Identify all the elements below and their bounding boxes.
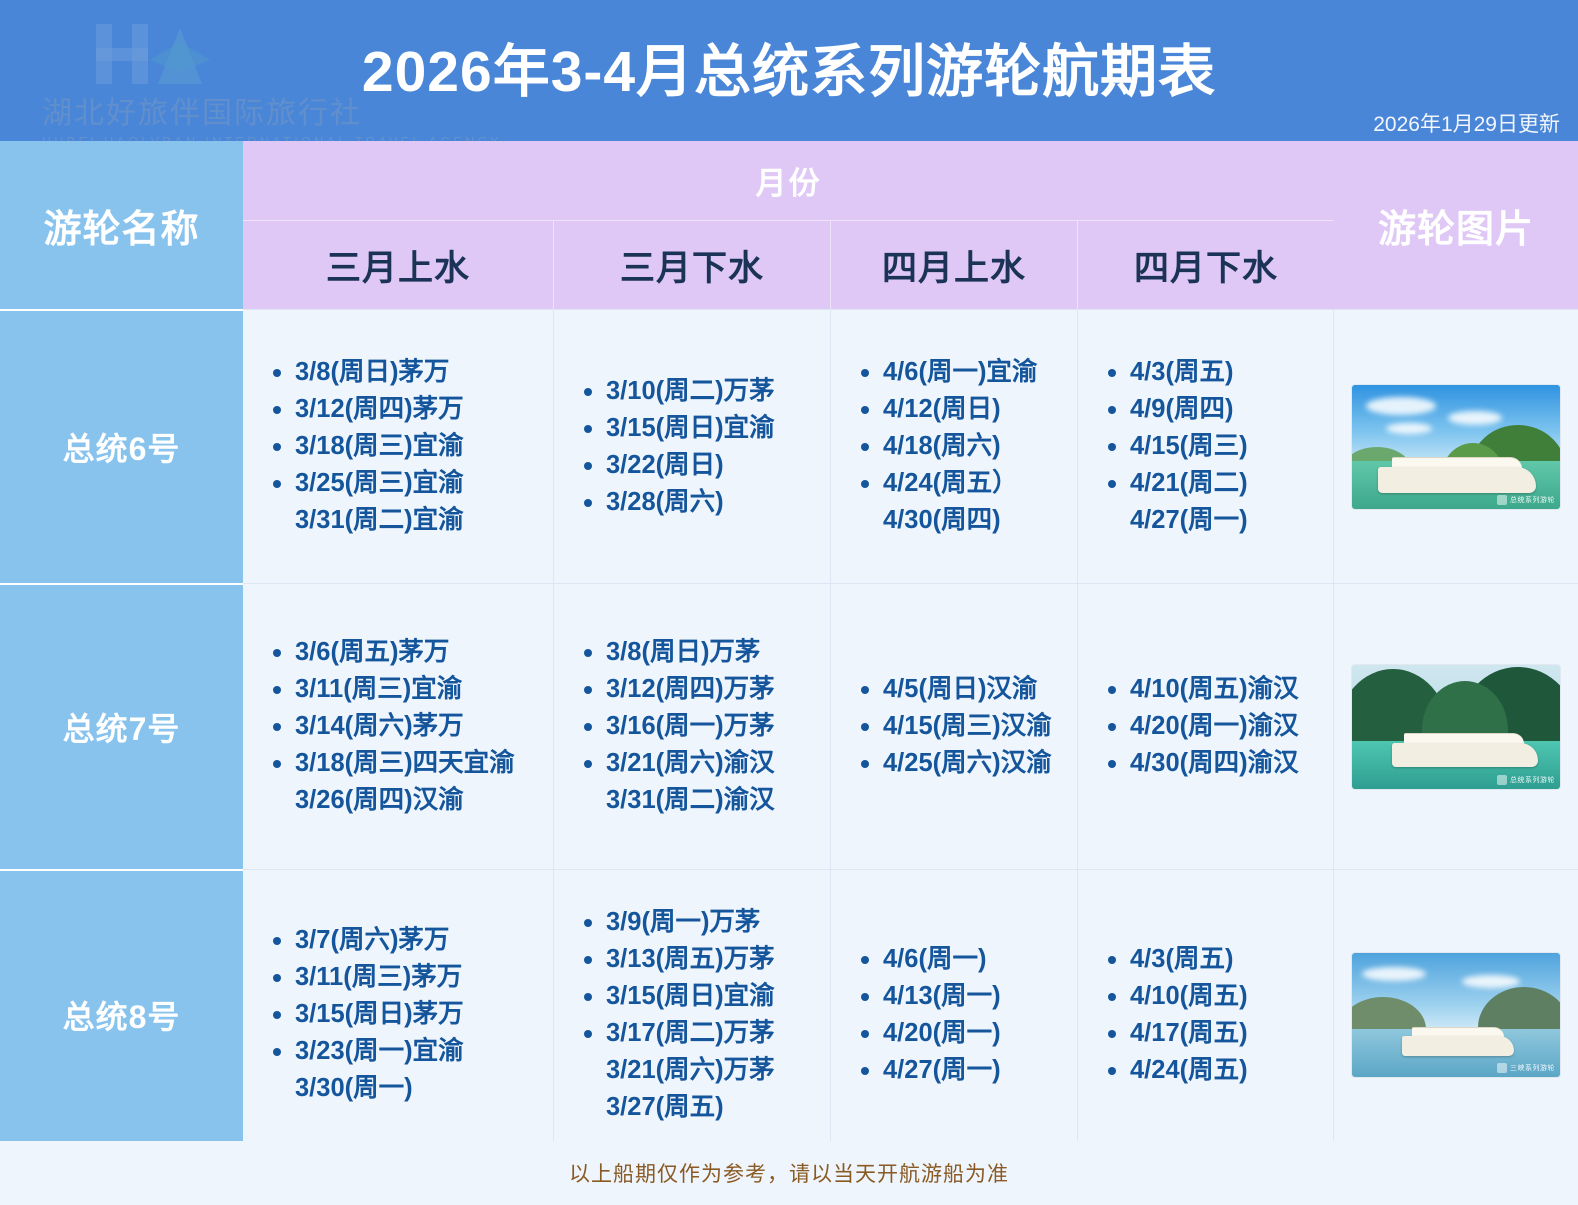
schedule-item: 3/9(周一)万茅 <box>584 904 824 941</box>
photo-watermark-badge: 总统系列游轮 <box>1497 495 1555 505</box>
schedule-list: 4/10(周五)渝汉 4/20(周一)渝汉 4/30(周四)渝汉 <box>1078 671 1333 782</box>
badge-logo-icon <box>1497 495 1507 505</box>
schedule-item: 4/21(周二) <box>1108 465 1327 502</box>
schedule-list: 4/3(周五) 4/9(周四) 4/15(周三) 4/21(周二) 4/27(周… <box>1078 354 1333 539</box>
schedule-item: 3/26(周四)汉渝 <box>273 782 547 819</box>
schedule-item: 4/30(周四) <box>861 502 1071 539</box>
cruise-schedule-page: 湖北好旅伴国际旅行社 HUBEI HAOLVBAN INTERNATIONAL … <box>0 0 1578 1205</box>
schedule-item: 3/15(周日)茅万 <box>273 996 547 1033</box>
schedule-item: 3/12(周四)茅万 <box>273 391 547 428</box>
table-row: 总统8号 3/7(周六)茅万 3/11(周三)茅万 3/15(周日)茅万 3/2… <box>0 869 1578 1159</box>
column-header-ship-name: 游轮名称 <box>0 141 243 309</box>
schedule-cell-march-downstream: 3/8(周日)万茅 3/12(周四)万茅 3/16(周一)万茅 3/21(周六)… <box>554 583 831 869</box>
schedule-list: 3/8(周日)茅万 3/12(周四)茅万 3/18(周三)宜渝 3/25(周三)… <box>243 354 553 539</box>
ship-hull <box>1378 467 1536 493</box>
table-header-row: 游轮名称 月份 三月上水 三月下水 四月上水 四月下水 游轮图片 <box>0 141 1578 309</box>
schedule-item: 3/21(周六)万茅 <box>584 1052 824 1089</box>
column-header-march-downstream: 三月下水 <box>554 221 831 309</box>
schedule-cell-march-downstream: 3/10(周二)万茅 3/15(周日)宜渝 3/22(周日) 3/28(周六) <box>554 309 831 583</box>
president-8-ship-photo: 三峡系列游轮 <box>1352 953 1560 1077</box>
schedule-item: 3/31(周二)宜渝 <box>273 502 547 539</box>
schedule-cell-april-upstream: 4/5(周日)汉渝 4/15(周三)汉渝 4/25(周六)汉渝 <box>831 583 1078 869</box>
ship-name-cell: 总统6号 <box>0 309 243 583</box>
cloud-shape <box>1448 411 1502 425</box>
schedule-item: 4/18(周六) <box>861 428 1071 465</box>
schedule-list: 3/7(周六)茅万 3/11(周三)茅万 3/15(周日)茅万 3/23(周一)… <box>243 922 553 1107</box>
schedule-cell-march-downstream: 3/9(周一)万茅 3/13(周五)万茅 3/15(周日)宜渝 3/17(周二)… <box>554 869 831 1159</box>
ship-photo-cell: 三峡系列游轮 <box>1334 869 1578 1159</box>
column-header-april-downstream: 四月下水 <box>1078 221 1334 309</box>
schedule-item: 4/15(周三)汉渝 <box>861 708 1071 745</box>
ship-photo-cell: 总统系列游轮 <box>1334 583 1578 869</box>
schedule-item: 3/22(周日) <box>584 447 824 484</box>
schedule-item: 4/9(周四) <box>1108 391 1327 428</box>
schedule-item: 4/13(周一) <box>861 978 1071 1015</box>
ship-hull <box>1392 743 1538 767</box>
schedule-list: 4/3(周五) 4/10(周五) 4/17(周五) 4/24(周五) <box>1078 941 1333 1089</box>
schedule-item: 3/28(周六) <box>584 484 824 521</box>
schedule-cell-march-upstream: 3/6(周五)茅万 3/11(周三)宜渝 3/14(周六)茅万 3/18(周三)… <box>243 583 554 869</box>
schedule-item: 4/5(周日)汉渝 <box>861 671 1071 708</box>
photo-watermark-badge: 总统系列游轮 <box>1497 775 1555 785</box>
schedule-cell-april-downstream: 4/10(周五)渝汉 4/20(周一)渝汉 4/30(周四)渝汉 <box>1078 583 1334 869</box>
schedule-item: 4/27(周一) <box>1108 502 1327 539</box>
schedule-list: 4/6(周一)宜渝 4/12(周日) 4/18(周六) 4/24(周五） 4/3… <box>831 354 1077 539</box>
schedule-item: 3/21(周六)渝汉 <box>584 745 824 782</box>
table-row: 总统7号 3/6(周五)茅万 3/11(周三)宜渝 3/14(周六)茅万 3/1… <box>0 583 1578 869</box>
month-subheader-row: 三月上水 三月下水 四月上水 四月下水 <box>243 220 1334 309</box>
schedule-item: 4/6(周一)宜渝 <box>861 354 1071 391</box>
schedule-item: 4/27(周一) <box>861 1052 1071 1089</box>
page-header: 湖北好旅伴国际旅行社 HUBEI HAOLVBAN INTERNATIONAL … <box>0 0 1578 141</box>
footer-note: 以上船期仅作为参考，请以当天开航游船为准 <box>0 1141 1578 1205</box>
page-title: 2026年3-4月总统系列游轮航期表 <box>0 26 1578 108</box>
schedule-item: 3/15(周日)宜渝 <box>584 410 824 447</box>
schedule-item: 4/20(周一) <box>861 1015 1071 1052</box>
schedule-list: 3/6(周五)茅万 3/11(周三)宜渝 3/14(周六)茅万 3/18(周三)… <box>243 634 553 819</box>
badge-label: 总统系列游轮 <box>1510 775 1555 785</box>
column-header-ship-photo: 游轮图片 <box>1334 141 1578 309</box>
photo-watermark-badge: 三峡系列游轮 <box>1497 1063 1555 1073</box>
cloud-shape <box>1386 423 1432 434</box>
schedule-item: 4/20(周一)渝汉 <box>1108 708 1327 745</box>
column-group-months: 月份 三月上水 三月下水 四月上水 四月下水 <box>243 141 1334 309</box>
ship-name-cell: 总统8号 <box>0 869 243 1159</box>
schedule-item: 3/8(周日)茅万 <box>273 354 547 391</box>
schedule-list: 4/5(周日)汉渝 4/15(周三)汉渝 4/25(周六)汉渝 <box>831 671 1077 782</box>
schedule-item: 4/25(周六)汉渝 <box>861 745 1071 782</box>
badge-label: 三峡系列游轮 <box>1510 1063 1555 1073</box>
schedule-item: 3/15(周日)宜渝 <box>584 978 824 1015</box>
schedule-item: 4/30(周四)渝汉 <box>1108 745 1327 782</box>
cloud-shape <box>1462 975 1520 988</box>
schedule-item: 3/18(周三)四天宜渝 <box>273 745 547 782</box>
schedule-table: 游轮名称 月份 三月上水 三月下水 四月上水 四月下水 游轮图片 总统6号 3/… <box>0 141 1578 1205</box>
schedule-item: 4/3(周五) <box>1108 354 1327 391</box>
schedule-item: 4/10(周五)渝汉 <box>1108 671 1327 708</box>
schedule-cell-april-downstream: 4/3(周五) 4/10(周五) 4/17(周五) 4/24(周五) <box>1078 869 1334 1159</box>
schedule-list: 3/10(周二)万茅 3/15(周日)宜渝 3/22(周日) 3/28(周六) <box>554 373 830 521</box>
schedule-list: 3/9(周一)万茅 3/13(周五)万茅 3/15(周日)宜渝 3/17(周二)… <box>554 904 830 1126</box>
schedule-list: 3/8(周日)万茅 3/12(周四)万茅 3/16(周一)万茅 3/21(周六)… <box>554 634 830 819</box>
schedule-item: 3/7(周六)茅万 <box>273 922 547 959</box>
schedule-item: 3/30(周一) <box>273 1070 547 1107</box>
schedule-item: 4/24(周五) <box>1108 1052 1327 1089</box>
schedule-list: 4/6(周一) 4/13(周一) 4/20(周一) 4/27(周一) <box>831 941 1077 1089</box>
schedule-cell-march-upstream: 3/7(周六)茅万 3/11(周三)茅万 3/15(周日)茅万 3/23(周一)… <box>243 869 554 1159</box>
schedule-item: 3/17(周二)万茅 <box>584 1015 824 1052</box>
schedule-item: 4/6(周一) <box>861 941 1071 978</box>
cloud-shape <box>1366 397 1436 415</box>
column-header-april-upstream: 四月上水 <box>831 221 1078 309</box>
schedule-item: 3/25(周三)宜渝 <box>273 465 547 502</box>
schedule-cell-april-upstream: 4/6(周一)宜渝 4/12(周日) 4/18(周六) 4/24(周五） 4/3… <box>831 309 1078 583</box>
schedule-item: 3/14(周六)茅万 <box>273 708 547 745</box>
column-header-march-upstream: 三月上水 <box>243 221 554 309</box>
schedule-item: 3/13(周五)万茅 <box>584 941 824 978</box>
president-6-ship-photo: 总统系列游轮 <box>1352 385 1560 509</box>
cloud-shape <box>1362 967 1426 981</box>
table-row: 总统6号 3/8(周日)茅万 3/12(周四)茅万 3/18(周三)宜渝 3/2… <box>0 309 1578 583</box>
badge-logo-icon <box>1497 775 1507 785</box>
schedule-item: 3/23(周一)宜渝 <box>273 1033 547 1070</box>
schedule-cell-april-upstream: 4/6(周一) 4/13(周一) 4/20(周一) 4/27(周一) <box>831 869 1078 1159</box>
column-group-months-label: 月份 <box>243 141 1334 220</box>
schedule-cell-march-upstream: 3/8(周日)茅万 3/12(周四)茅万 3/18(周三)宜渝 3/25(周三)… <box>243 309 554 583</box>
ship-name-cell: 总统7号 <box>0 583 243 869</box>
schedule-item: 4/24(周五） <box>861 465 1071 502</box>
schedule-cell-april-downstream: 4/3(周五) 4/9(周四) 4/15(周三) 4/21(周二) 4/27(周… <box>1078 309 1334 583</box>
badge-label: 总统系列游轮 <box>1510 495 1555 505</box>
schedule-item: 3/18(周三)宜渝 <box>273 428 547 465</box>
schedule-item: 3/27(周五) <box>584 1089 824 1126</box>
schedule-item: 3/8(周日)万茅 <box>584 634 824 671</box>
schedule-item: 3/31(周二)渝汉 <box>584 782 824 819</box>
schedule-item: 3/11(周三)茅万 <box>273 959 547 996</box>
schedule-item: 3/10(周二)万茅 <box>584 373 824 410</box>
schedule-item: 3/6(周五)茅万 <box>273 634 547 671</box>
badge-logo-icon <box>1497 1063 1507 1073</box>
schedule-item: 4/17(周五) <box>1108 1015 1327 1052</box>
schedule-item: 3/12(周四)万茅 <box>584 671 824 708</box>
schedule-item: 3/16(周一)万茅 <box>584 708 824 745</box>
president-7-ship-photo: 总统系列游轮 <box>1352 665 1560 789</box>
update-date-label: 2026年1月29日更新 <box>1373 108 1560 138</box>
schedule-item: 4/12(周日) <box>861 391 1071 428</box>
schedule-item: 4/3(周五) <box>1108 941 1327 978</box>
schedule-item: 3/11(周三)宜渝 <box>273 671 547 708</box>
ship-photo-cell: 总统系列游轮 <box>1334 309 1578 583</box>
schedule-item: 4/15(周三) <box>1108 428 1327 465</box>
schedule-item: 4/10(周五) <box>1108 978 1327 1015</box>
ship-hull <box>1402 1036 1514 1056</box>
